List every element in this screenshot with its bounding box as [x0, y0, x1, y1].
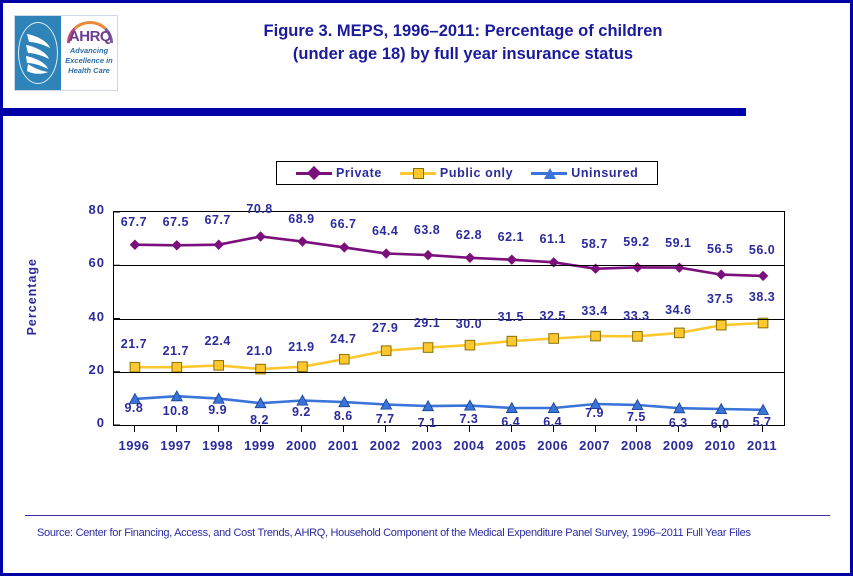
data-label: 58.7 — [572, 237, 618, 251]
x-axis-tick — [301, 426, 302, 432]
data-point-marker — [130, 240, 140, 250]
y-axis-title: Percentage — [25, 258, 39, 335]
data-label: 21.7 — [111, 337, 157, 351]
x-axis-tick — [595, 426, 596, 432]
data-label: 56.0 — [739, 243, 785, 257]
x-axis-tick-label-2009: 2009 — [654, 438, 702, 453]
data-point-marker — [674, 262, 684, 272]
page-title: Figure 3. MEPS, 1996–2011: Percentage of… — [133, 20, 793, 66]
data-label: 34.6 — [655, 303, 701, 317]
data-point-marker — [130, 362, 140, 372]
data-point-marker — [549, 334, 559, 344]
gridline — [114, 372, 784, 373]
data-point-marker — [507, 336, 517, 346]
data-point-marker — [758, 271, 768, 281]
data-point-marker — [214, 361, 224, 371]
data-point-marker — [591, 331, 601, 341]
figure-header: AHRQ Advancing Excellence in Health Care… — [3, 3, 850, 101]
data-label: 63.8 — [404, 223, 450, 237]
data-label: 30.0 — [446, 317, 492, 331]
data-point-marker — [716, 269, 726, 279]
data-label: 67.7 — [195, 213, 241, 227]
y-axis-tick-label: 0 — [69, 415, 105, 430]
data-label: 6.3 — [655, 416, 701, 430]
data-label: 24.7 — [320, 332, 366, 346]
x-axis-tick-label-2005: 2005 — [487, 438, 535, 453]
legend-label: Uninsured — [571, 166, 638, 180]
data-label: 21.9 — [278, 340, 324, 354]
data-point-marker — [507, 254, 517, 264]
data-label: 6.0 — [697, 417, 743, 431]
data-point-marker — [172, 240, 182, 250]
data-label: 7.9 — [572, 406, 618, 420]
data-label: 37.5 — [697, 292, 743, 306]
data-point-marker — [465, 253, 475, 263]
data-label: 5.7 — [739, 415, 785, 429]
x-axis-tick-label-2006: 2006 — [529, 438, 577, 453]
figure-page: AHRQ Advancing Excellence in Health Care… — [0, 0, 853, 576]
data-point-marker — [340, 354, 350, 364]
data-label: 29.1 — [404, 316, 450, 330]
y-axis-tick-label: 20 — [69, 362, 105, 377]
x-axis-tick — [134, 426, 135, 432]
ahrq-tagline-line1: Advancing — [61, 46, 117, 56]
legend-label: Private — [336, 166, 382, 180]
x-axis-tick — [176, 426, 177, 432]
data-point-marker — [716, 320, 726, 330]
data-point-marker — [758, 318, 768, 328]
y-axis-tick-label: 40 — [69, 309, 105, 324]
data-label: 9.9 — [195, 403, 241, 417]
x-axis-tick-label-2008: 2008 — [612, 438, 660, 453]
data-label: 7.5 — [613, 410, 659, 424]
x-axis-tick-label-1996: 1996 — [110, 438, 158, 453]
data-point-marker — [423, 343, 433, 353]
page-title-line1: Figure 3. MEPS, 1996–2011: Percentage of… — [133, 20, 793, 43]
x-axis-tick — [218, 426, 219, 432]
data-point-marker — [172, 362, 182, 372]
data-label: 9.8 — [111, 401, 157, 415]
data-point-marker — [675, 328, 685, 338]
data-point-marker — [213, 240, 223, 250]
data-point-marker — [632, 262, 642, 272]
data-label: 64.4 — [362, 224, 408, 238]
data-label: 8.6 — [320, 409, 366, 423]
x-axis-tick-label-2003: 2003 — [403, 438, 451, 453]
data-label: 66.7 — [320, 217, 366, 231]
x-axis-tick-label-1997: 1997 — [152, 438, 200, 453]
gridline — [114, 265, 784, 266]
data-label: 7.3 — [446, 412, 492, 426]
y-axis-tick-label: 80 — [69, 202, 105, 217]
data-label: 59.2 — [613, 235, 659, 249]
data-label: 33.4 — [572, 304, 618, 318]
ahrq-tagline: Advancing Excellence in Health Care — [61, 46, 117, 76]
data-label: 67.7 — [111, 215, 157, 229]
data-point-marker — [339, 242, 349, 252]
data-label: 6.4 — [488, 415, 534, 429]
legend-item-public-only[interactable]: Public only — [400, 166, 513, 180]
legend-marker-triangle-icon — [531, 166, 567, 180]
data-label: 7.7 — [362, 412, 408, 426]
data-label: 8.2 — [237, 413, 283, 427]
data-point-marker — [255, 231, 265, 241]
data-label: 68.9 — [278, 212, 324, 226]
data-label: 70.8 — [237, 202, 283, 216]
legend-item-private[interactable]: Private — [296, 166, 382, 180]
data-point-marker — [381, 248, 391, 258]
data-label: 6.4 — [530, 415, 576, 429]
data-point-marker — [298, 362, 308, 372]
hhs-eagle-icon — [24, 30, 52, 76]
x-axis-tick — [469, 426, 470, 432]
line-chart: Percentage 02040608019961997199819992000… — [3, 198, 850, 483]
data-label: 31.5 — [488, 310, 534, 324]
x-axis-tick-label-2007: 2007 — [571, 438, 619, 453]
legend-marker — [307, 166, 321, 180]
x-axis-tick-label-1998: 1998 — [194, 438, 242, 453]
ahrq-tagline-line3: Health Care — [61, 66, 117, 76]
data-label: 61.1 — [530, 232, 576, 246]
data-point-marker — [633, 332, 643, 342]
y-axis-tick-label: 60 — [69, 255, 105, 270]
legend-item-uninsured[interactable]: Uninsured — [531, 166, 638, 180]
x-axis-tick-label-2010: 2010 — [696, 438, 744, 453]
legend-marker-square-icon — [400, 166, 436, 180]
footer-divider — [25, 515, 830, 516]
x-axis-tick — [385, 426, 386, 432]
data-label: 22.4 — [195, 334, 241, 348]
x-axis-tick-label-2001: 2001 — [319, 438, 367, 453]
data-label: 9.2 — [278, 405, 324, 419]
ahrq-acronym: AHRQ — [64, 28, 116, 45]
ahrq-tagline-line2: Excellence in — [61, 56, 117, 66]
data-point-marker — [381, 346, 391, 356]
legend-marker-diamond-icon — [296, 166, 332, 180]
x-axis-tick-label-1999: 1999 — [236, 438, 284, 453]
x-axis-tick-label-2004: 2004 — [445, 438, 493, 453]
data-label: 32.5 — [530, 309, 576, 323]
data-point-marker — [465, 340, 475, 350]
x-axis-tick-label-2000: 2000 — [277, 438, 325, 453]
legend-marker — [413, 168, 424, 179]
x-axis-tick-label-2002: 2002 — [361, 438, 409, 453]
x-axis-tick — [636, 426, 637, 432]
ahrq-wordmark: AHRQ Advancing Excellence in Health Care — [61, 16, 117, 90]
data-label: 7.1 — [404, 416, 450, 430]
chart-legend: PrivatePublic onlyUninsured — [276, 161, 658, 185]
x-axis-tick — [343, 426, 344, 432]
page-title-line2: (under age 18) by full year insurance st… — [133, 43, 793, 66]
legend-label: Public only — [440, 166, 513, 180]
data-point-marker — [297, 236, 307, 246]
ahrq-hhs-logo: AHRQ Advancing Excellence in Health Care — [14, 15, 118, 91]
hhs-seal-icon — [15, 16, 61, 90]
data-label: 38.3 — [739, 290, 785, 304]
data-point-marker — [423, 250, 433, 260]
header-divider — [3, 108, 746, 116]
source-note: Source: Center for Financing, Access, an… — [37, 525, 827, 541]
legend-marker — [544, 168, 556, 179]
data-label: 62.1 — [488, 230, 534, 244]
data-label: 21.7 — [153, 344, 199, 358]
data-label: 67.5 — [153, 215, 199, 229]
data-label: 59.1 — [655, 236, 701, 250]
x-axis-tick-label-2011: 2011 — [738, 438, 786, 453]
data-label: 21.0 — [237, 344, 283, 358]
data-label: 62.8 — [446, 228, 492, 242]
data-label: 56.5 — [697, 242, 743, 256]
data-label: 10.8 — [153, 404, 199, 418]
data-label: 27.9 — [362, 321, 408, 335]
data-label: 33.3 — [613, 309, 659, 323]
